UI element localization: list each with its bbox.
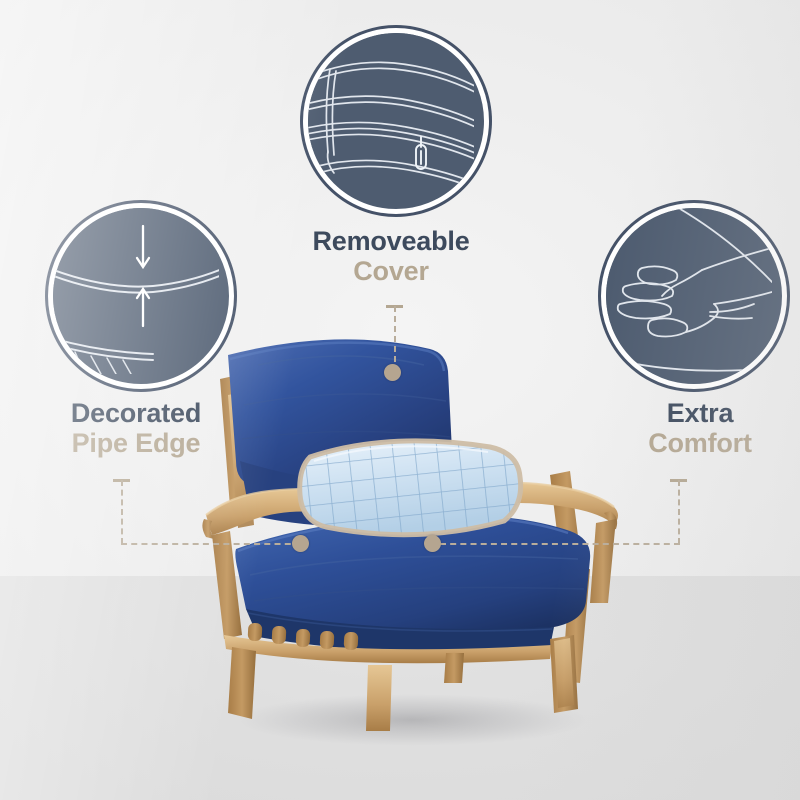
label-line1-removeable: Removeable xyxy=(289,226,493,256)
feature-label-extra-comfort: Extra Comfort xyxy=(598,398,800,458)
feature-icon-extra-comfort xyxy=(601,203,787,389)
callout-dot-pipe-edge xyxy=(292,535,309,552)
label-line1-decorated: Decorated xyxy=(34,398,238,428)
feature-label-removeable-cover: Removeable Cover xyxy=(289,226,493,286)
callout-dot-removeable-cover xyxy=(384,364,401,381)
label-line2-cover: Cover xyxy=(289,256,493,286)
label-line2-comfort: Comfort xyxy=(598,428,800,458)
callout-dot-extra-comfort xyxy=(424,535,441,552)
piped-edge-arrows-icon xyxy=(53,208,219,374)
feature-label-decorated-pipe-edge: Decorated Pipe Edge xyxy=(34,398,238,458)
zippered-cushion-icon xyxy=(308,33,474,199)
label-line2-pipe-edge: Pipe Edge xyxy=(34,428,238,458)
feature-icon-removeable-cover xyxy=(303,28,489,214)
infographic-canvas: Removeable Cover xyxy=(0,0,800,800)
label-line1-extra: Extra xyxy=(598,398,800,428)
product-image-teak-armchair xyxy=(198,335,622,747)
hand-pressing-cushion-icon xyxy=(606,208,772,374)
feature-icon-decorated-pipe-edge xyxy=(48,203,234,389)
